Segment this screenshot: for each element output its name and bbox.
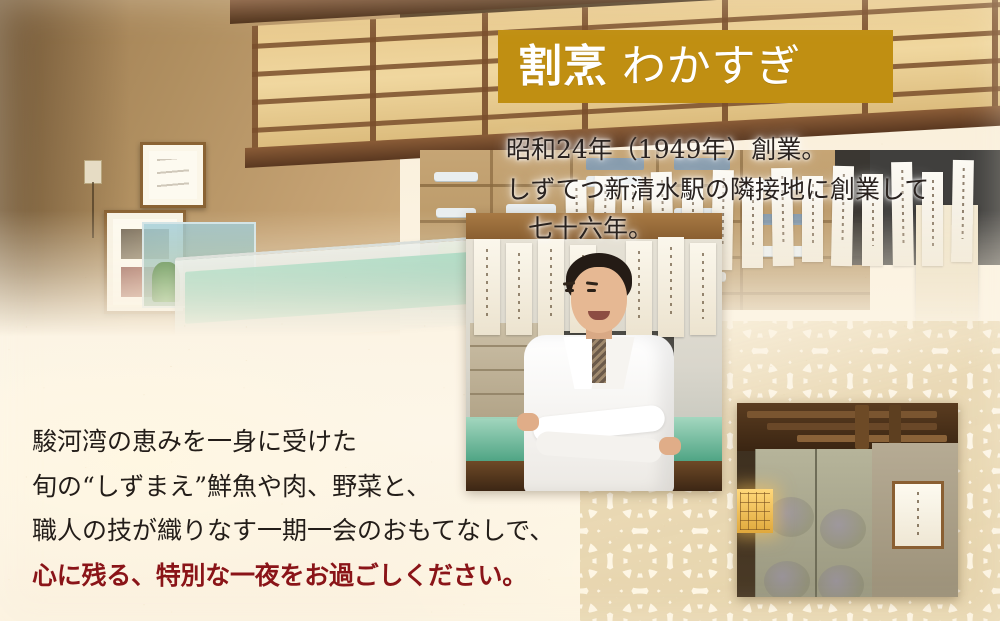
intro-line-2: しずてつ新清水駅の隣接地に創業して: [506, 170, 986, 210]
body-copy-block: 駿河湾の恵みを一身に受けた 旬の“しずまえ”鮮魚や肉、野菜と、 職人の技が織りな…: [32, 420, 592, 598]
framed-calligraphy: [140, 142, 206, 208]
andon-lamp-sign: [892, 481, 944, 549]
intro-line-1: 昭和24年（1949年）創業。: [506, 130, 986, 170]
page-title: 割烹わかすぎ: [498, 45, 801, 89]
intro-text-block: 昭和24年（1949年）創業。 しずてつ新清水駅の隣接地に創業して 七十六年。: [506, 130, 986, 249]
intro-line-3: 七十六年。: [506, 209, 986, 249]
entrance-room-photo: [737, 403, 958, 597]
body-line-3: 職人の技が織りなす一期一会のおもてなしで、: [32, 509, 592, 554]
body-line-2: 旬の“しずまえ”鮮魚や肉、野菜と、: [32, 465, 592, 510]
title-sub: わかすぎ: [622, 41, 802, 92]
title-main: 割烹: [518, 41, 608, 92]
body-line-4-accent: 心に残る、特別な一夜をお過ごしください。: [32, 554, 592, 599]
promo-banner: 割烹わかすぎ 昭和24年（1949年）創業。 しずてつ新清水駅の隣接地に創業して…: [0, 0, 1000, 621]
body-line-1: 駿河湾の恵みを一身に受けた: [32, 420, 592, 465]
title-bar: 割烹わかすぎ: [498, 30, 893, 103]
